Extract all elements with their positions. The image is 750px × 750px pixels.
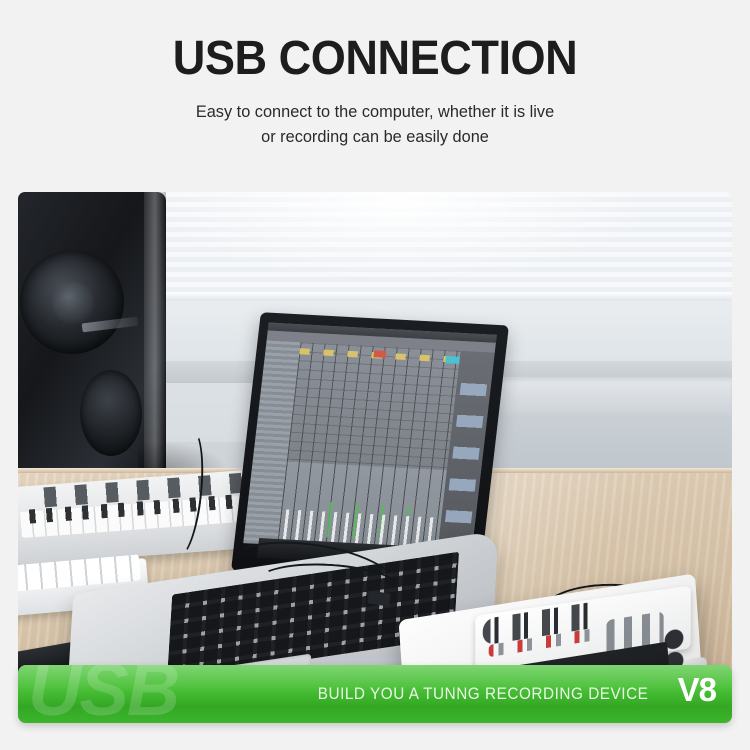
banner-tagline: BUILD YOU A TUNNG RECORDING DEVICE	[317, 684, 648, 704]
page-subtitle: Easy to connect to the computer, whether…	[15, 100, 735, 149]
header-section: USB CONNECTION Easy to connect to the co…	[0, 0, 750, 192]
product-photo: Debra 8CH AUDIO MIXER	[18, 192, 732, 723]
subtitle-line-1: Easy to connect to the computer, whether…	[15, 100, 735, 125]
page-title: USB CONNECTION	[23, 31, 728, 86]
speaker-tweeter-icon	[80, 370, 142, 456]
daw-clip-cyan	[445, 356, 460, 364]
bottom-banner: USB BUILD YOU A TUNNG RECORDING DEVICE V…	[18, 665, 732, 723]
speaker-woofer-cone-icon	[52, 282, 94, 324]
product-banner-page: USB CONNECTION Easy to connect to the co…	[0, 0, 750, 750]
daw-clip-red	[373, 350, 386, 358]
banner-watermark: USB	[28, 665, 178, 723]
subtitle-line-2: or recording can be easily done	[15, 125, 735, 150]
laptop-screen	[243, 323, 497, 556]
banner-version-badge: V8	[678, 673, 716, 706]
window-glow	[138, 192, 658, 284]
